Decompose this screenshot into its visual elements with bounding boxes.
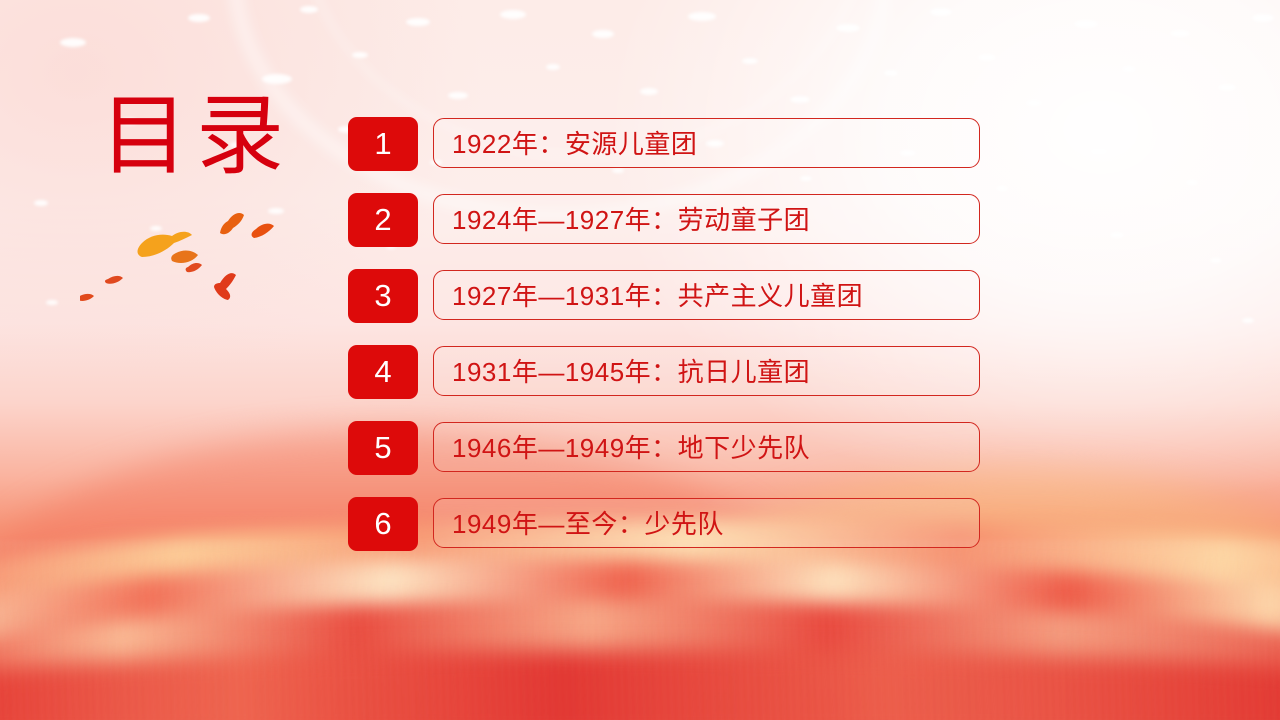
bokeh-dot bbox=[352, 52, 368, 58]
toc-list: 1 1922年：安源儿童团 2 1924年—1927年：劳动童子团 3 1927… bbox=[348, 117, 980, 573]
toc-item-label: 1922年：安源儿童团 bbox=[452, 119, 697, 169]
bokeh-dot bbox=[1218, 84, 1236, 91]
bokeh-dot bbox=[742, 58, 758, 64]
list-item[interactable]: 5 1946年—1949年：地下少先队 bbox=[348, 421, 980, 475]
toc-number-badge: 5 bbox=[348, 421, 418, 475]
bokeh-dot bbox=[60, 38, 86, 47]
bokeh-dot bbox=[1074, 20, 1098, 28]
bokeh-dot bbox=[1122, 66, 1136, 72]
bokeh-dot bbox=[688, 12, 716, 21]
bokeh-dot bbox=[448, 92, 468, 99]
bokeh-dot bbox=[930, 8, 952, 16]
bokeh-dot bbox=[592, 30, 614, 38]
list-item[interactable]: 2 1924年—1927年：劳动童子团 bbox=[348, 193, 980, 247]
bokeh-dot bbox=[640, 88, 658, 95]
bokeh-dot bbox=[546, 64, 560, 70]
flying-birds-svg bbox=[80, 205, 290, 320]
bokeh-dot bbox=[1110, 232, 1124, 238]
toc-item-label: 1927年—1931年：共产主义儿童团 bbox=[452, 271, 863, 321]
bokeh-dot bbox=[300, 6, 318, 13]
flying-birds-icon bbox=[80, 205, 290, 320]
page-title: 目录 bbox=[100, 92, 292, 184]
toc-pill[interactable]: 1946年—1949年：地下少先队 bbox=[433, 422, 980, 472]
bokeh-dot bbox=[34, 200, 48, 206]
toc-number-badge: 4 bbox=[348, 345, 418, 399]
bokeh-dot bbox=[46, 300, 58, 305]
bokeh-dot bbox=[1252, 14, 1274, 22]
toc-pill[interactable]: 1949年—至今：少先队 bbox=[433, 498, 980, 548]
bokeh-dot bbox=[188, 14, 210, 22]
bokeh-dot bbox=[406, 18, 430, 26]
toc-pill[interactable]: 1924年—1927年：劳动童子团 bbox=[433, 194, 980, 244]
toc-number-badge: 6 bbox=[348, 497, 418, 551]
bokeh-dot bbox=[978, 54, 996, 61]
bokeh-dot bbox=[836, 24, 860, 32]
toc-item-label: 1931年—1945年：抗日儿童团 bbox=[452, 347, 810, 397]
bokeh-dot bbox=[1090, 148, 1108, 155]
bokeh-dot bbox=[996, 186, 1008, 191]
toc-item-label: 1949年—至今：少先队 bbox=[452, 499, 724, 549]
bokeh-dot bbox=[262, 74, 292, 84]
list-item[interactable]: 1 1922年：安源儿童团 bbox=[348, 117, 980, 171]
toc-number-badge: 3 bbox=[348, 269, 418, 323]
bokeh-dot bbox=[1242, 318, 1254, 323]
toc-number-badge: 2 bbox=[348, 193, 418, 247]
toc-pill[interactable]: 1927年—1931年：共产主义儿童团 bbox=[433, 270, 980, 320]
bokeh-dot bbox=[884, 70, 898, 76]
bokeh-dot bbox=[1026, 100, 1042, 106]
list-item[interactable]: 6 1949年—至今：少先队 bbox=[348, 497, 980, 551]
toc-item-label: 1946年—1949年：地下少先队 bbox=[452, 423, 810, 473]
bokeh-dot bbox=[500, 10, 526, 19]
bokeh-dot bbox=[790, 96, 810, 103]
bokeh-dot bbox=[1186, 180, 1198, 185]
list-item[interactable]: 4 1931年—1945年：抗日儿童团 bbox=[348, 345, 980, 399]
list-item[interactable]: 3 1927年—1931年：共产主义儿童团 bbox=[348, 269, 980, 323]
toc-pill[interactable]: 1931年—1945年：抗日儿童团 bbox=[433, 346, 980, 396]
slide-canvas: 目录 1 1922年：安源儿童团 2 1924年—1927年：劳动童子团 3 1… bbox=[0, 0, 1280, 720]
toc-pill[interactable]: 1922年：安源儿童团 bbox=[433, 118, 980, 168]
bokeh-dot bbox=[1170, 30, 1190, 37]
toc-number-badge: 1 bbox=[348, 117, 418, 171]
toc-item-label: 1924年—1927年：劳动童子团 bbox=[452, 195, 810, 245]
bokeh-dot bbox=[1210, 258, 1222, 263]
